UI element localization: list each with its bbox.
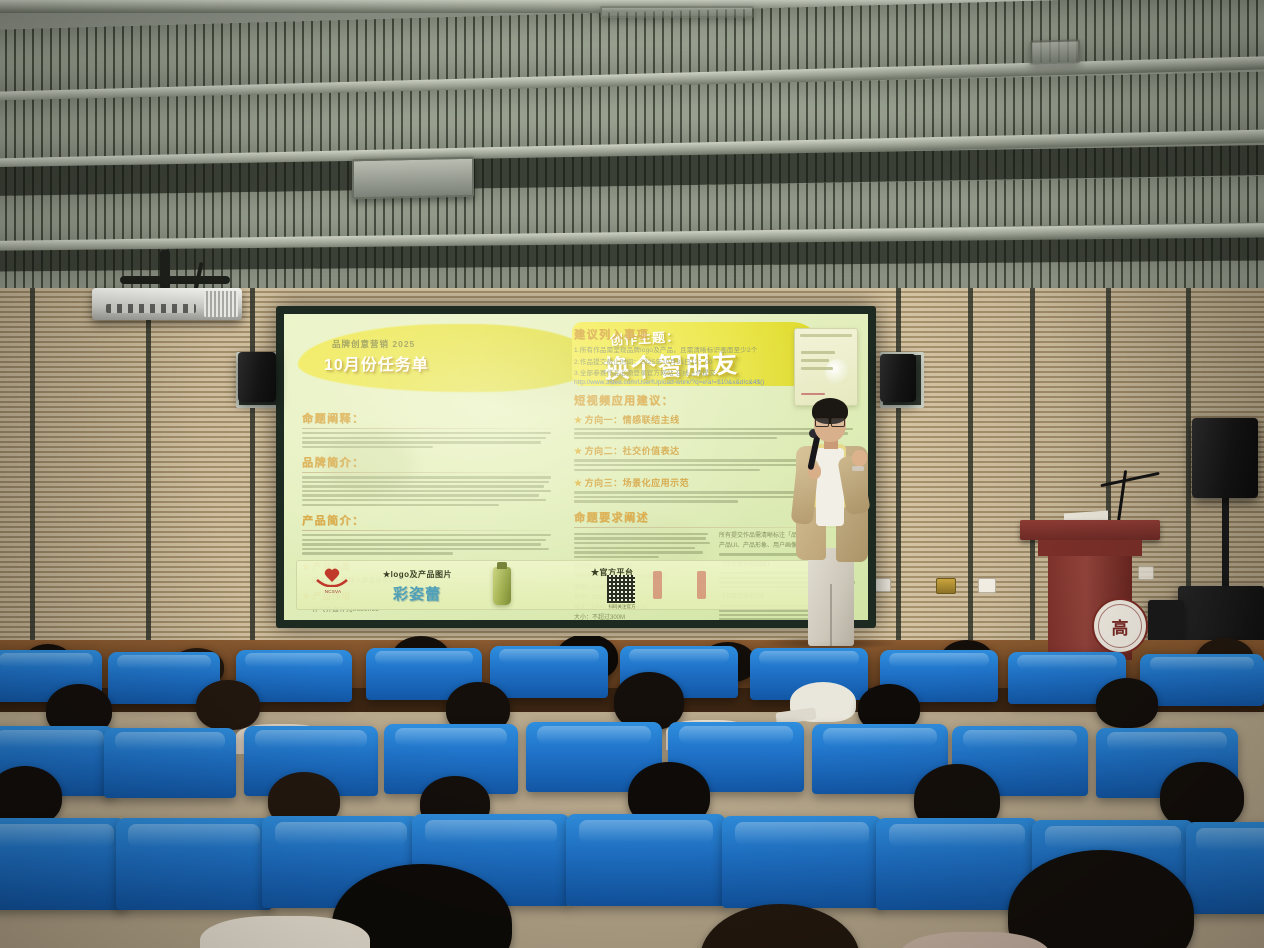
slide-badge-year: 品牌创意营销 2025	[332, 338, 415, 350]
ncsva-mark-icon	[315, 567, 349, 587]
projected-slide: 品牌创意营销 2025 10月份任务单 创作主题： 换个智朋友 命题阐释： 品牌…	[284, 314, 868, 620]
projector-mount	[160, 250, 170, 290]
ceiling-vent-right	[1030, 39, 1080, 64]
wall-seam	[146, 288, 151, 668]
section-heading-mingti: 命题阐释：	[302, 410, 554, 426]
qr-caption: 扫码关注官方	[601, 604, 643, 610]
wall-speaker-right-top	[880, 354, 916, 402]
seat	[722, 816, 882, 908]
body-text-block	[302, 534, 554, 555]
audience-head-foreground	[700, 904, 860, 948]
glasses-icon	[815, 418, 845, 425]
body-text-block	[302, 476, 554, 506]
qr-code[interactable]	[607, 575, 635, 603]
ceiling	[0, 0, 1264, 300]
slide-badge-task: 10月份任务单	[324, 351, 429, 375]
seat	[1140, 654, 1264, 706]
presenter-hand-right	[852, 450, 867, 466]
seat	[490, 646, 608, 698]
lecture-hall-photo: 品牌创意营销 2025 10月份任务单 创作主题： 换个智朋友 命题阐释： 品牌…	[0, 0, 1264, 948]
wall-seam	[968, 288, 973, 668]
body-text-block	[302, 432, 554, 448]
brand-wordmark: 彩姿蕾	[393, 583, 441, 604]
product-bottle-graphic	[493, 567, 511, 605]
wall-outlet-right	[978, 578, 996, 593]
presenter-watch	[852, 466, 864, 471]
product-thumbnail-card	[794, 328, 858, 406]
seat	[104, 728, 236, 798]
star-icon: ★	[574, 478, 583, 488]
ceiling-projector	[92, 288, 242, 320]
product-image-label: ★logo及产品图片	[383, 569, 452, 580]
wall-outlet-gold	[936, 578, 956, 594]
podium-top	[1020, 520, 1160, 540]
side-tag	[697, 571, 706, 599]
pa-speaker-right	[1192, 418, 1258, 498]
product-circle-graphic	[825, 359, 851, 385]
audience-head	[196, 680, 260, 730]
wall-speaker-left-top	[238, 352, 276, 402]
star-icon: ★	[574, 446, 583, 456]
projector-ports	[106, 304, 196, 313]
ceiling-vent-left	[352, 157, 474, 200]
ceiling-light-strip	[600, 6, 754, 18]
projector-mount-bracket	[120, 276, 230, 284]
seat	[0, 818, 126, 910]
seat	[116, 818, 272, 910]
audience-head	[1096, 678, 1158, 728]
bullet-brand-claim: ★品牌主张	[302, 618, 554, 620]
projector-vent-icon	[204, 291, 238, 317]
ncsva-logo: NCSVA	[307, 566, 359, 604]
podium-neck	[1038, 540, 1142, 556]
side-tag	[653, 571, 662, 599]
section-heading-chanpin: 产品简介：	[302, 512, 554, 528]
seat	[1186, 822, 1264, 914]
section-heading-pinpai: 品牌简介：	[302, 454, 554, 470]
wall-seam	[250, 288, 255, 668]
ncsva-abbr: NCSVA	[307, 589, 359, 594]
spec-line: 大小：不超过300M	[574, 613, 711, 620]
slide-logo-bar: NCSVA ★logo及产品图片 彩姿蕾 ★官方平台 扫码关注官方	[296, 560, 854, 610]
star-icon: ★	[574, 415, 583, 425]
presenter	[782, 398, 878, 648]
audience-area	[0, 636, 1264, 948]
wall-seam	[896, 288, 901, 668]
audience-shoulder-foreground	[200, 916, 370, 948]
seat	[566, 814, 726, 906]
wall-seam	[30, 288, 35, 668]
